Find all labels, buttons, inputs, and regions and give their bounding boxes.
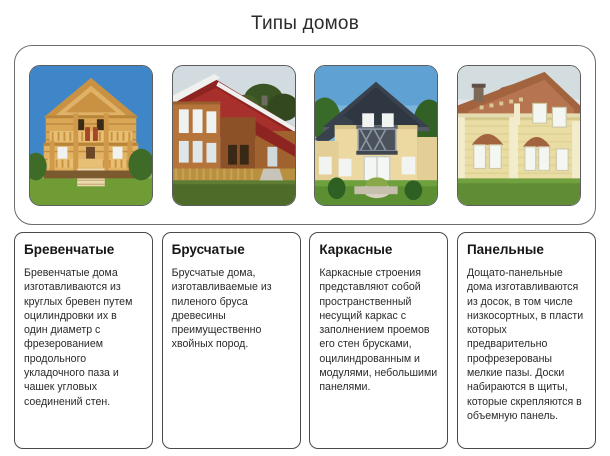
panel-house-illustration [458,66,580,205]
card-title-panel: Панельные [467,242,586,258]
card-body-log: Бревенчатые дома изготавливаются из круг… [24,266,143,409]
panel-house-photo [457,65,581,206]
card-body-timber: Брусчатые дома, изготавливаемые из пилен… [172,266,291,352]
log-house-illustration [30,66,152,205]
card-title-frame: Каркасные [319,242,438,258]
frame-house-illustration [315,66,437,205]
log-house-photo [29,65,153,206]
timber-house-illustration [173,66,295,205]
card-title-timber: Брусчатые [172,242,291,258]
photo-strip-container [14,45,596,225]
photo-row [15,46,595,224]
timber-house-photo [172,65,296,206]
card-title-log: Бревенчатые [24,242,143,258]
card-body-panel: Дощато-панельные дома изготавливаются из… [467,266,586,423]
page-title: Типы домов [0,0,610,42]
description-cards: Бревенчатые Бревенчатые дома изготавлива… [14,232,596,449]
card-panel-houses: Панельные Дощато-панельные дома изготавл… [457,232,596,449]
card-log-houses: Бревенчатые Бревенчатые дома изготавлива… [14,232,153,449]
frame-house-photo [314,65,438,206]
card-frame-houses: Каркасные Каркасные строения представляю… [309,232,448,449]
card-timber-houses: Брусчатые Брусчатые дома, изготавливаемы… [162,232,301,449]
card-body-frame: Каркасные строения представляют собой пр… [319,266,438,395]
